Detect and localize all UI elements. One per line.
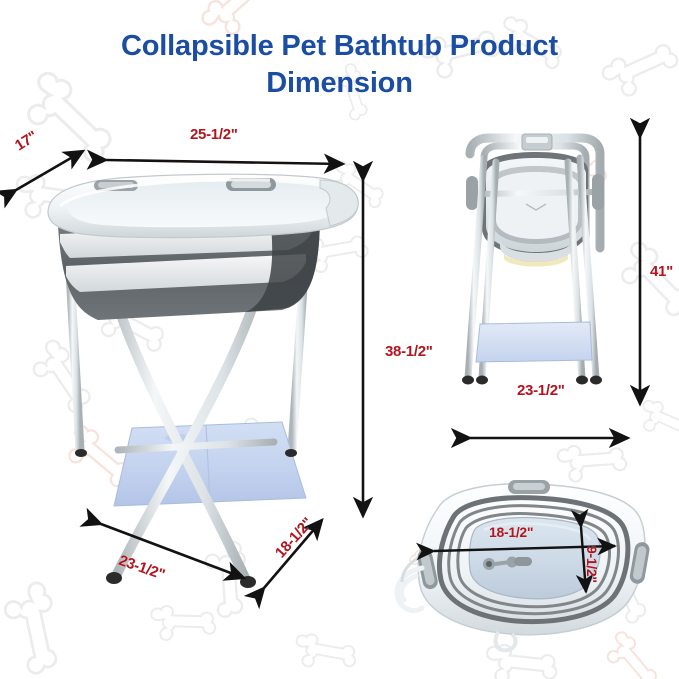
folded-shelf — [476, 322, 592, 362]
dimension-label-folded-height-41: 41" — [650, 263, 673, 280]
folded-side-grip-right — [592, 174, 604, 210]
infographic-canvas: Collapsible Pet Bathtub Product Dimensio… — [0, 0, 679, 679]
main-open-bathtub-illustration — [20, 150, 370, 620]
folded-unit-illustration — [440, 128, 630, 418]
dimension-label-collapsed-length-18-5: 18-1/2" — [489, 524, 533, 540]
dimension-label-collapsed-width-9-5: 9-1/2" — [584, 546, 600, 583]
page-title: Collapsible Pet Bathtub Product Dimensio… — [0, 28, 679, 102]
dimension-label-height-38-5: 38-1/2" — [385, 343, 433, 360]
page-title-line-2: Dimension — [0, 65, 679, 102]
dimension-label-width-25-5: 25-1/2" — [190, 126, 238, 143]
folded-side-grip-left — [466, 176, 478, 210]
page-title-line-1: Collapsible Pet Bathtub Product — [0, 28, 679, 65]
stand-foot — [106, 572, 256, 588]
collapsed-tub-illustration — [392, 472, 670, 662]
dimension-label-folded-width-23-5: 23-1/2" — [517, 382, 565, 399]
